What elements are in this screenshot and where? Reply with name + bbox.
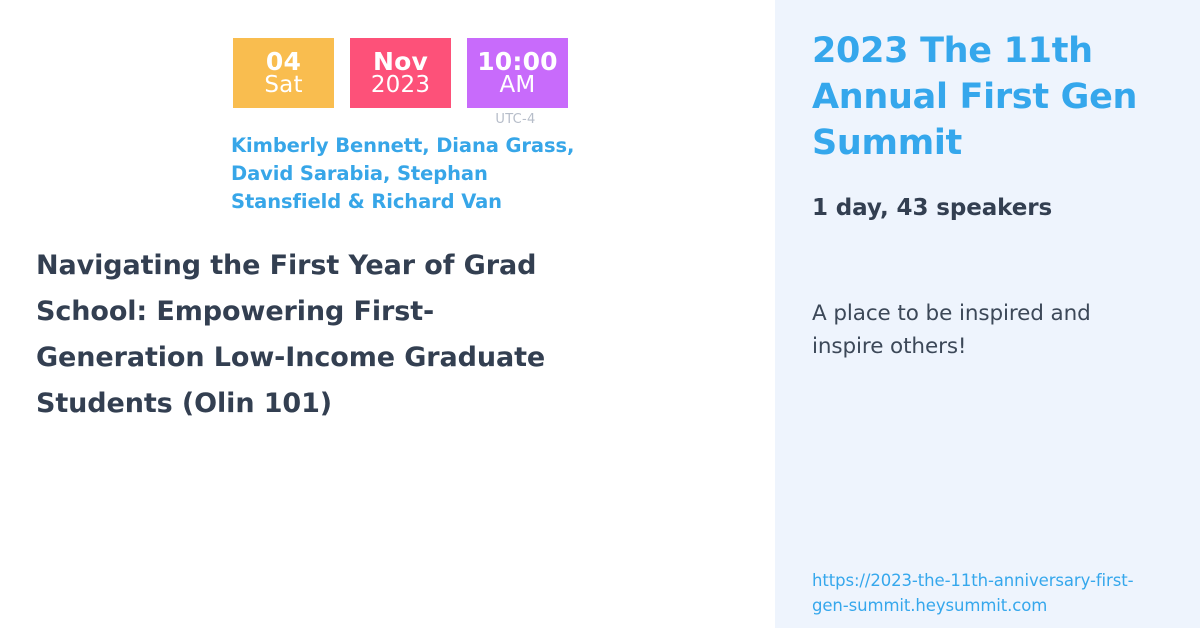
- event-share-card: 04 Sat Nov 2023 10:00 AM UTC-4 Kimberly …: [0, 0, 1200, 628]
- timezone-label: UTC-4: [465, 112, 566, 127]
- date-badge-day-number: 04: [266, 49, 301, 75]
- summit-panel: 2023 The 11th Annual First Gen Summit 1 …: [775, 0, 1200, 628]
- date-badge-day-weekday: Sat: [264, 74, 302, 97]
- date-badge-time-clock: 10:00: [477, 49, 558, 75]
- summit-stats: 1 day, 43 speakers: [812, 194, 1152, 224]
- summit-url-link[interactable]: https://2023-the-11th-anniversary-first-…: [812, 569, 1152, 618]
- date-badge-day: 04 Sat: [233, 38, 334, 108]
- session-title: Navigating the First Year of Grad School…: [36, 243, 566, 427]
- date-badge-year: 2023: [371, 74, 430, 97]
- date-badge-month-name: Nov: [373, 49, 428, 75]
- date-time-badge-group: 04 Sat Nov 2023 10:00 AM: [233, 38, 568, 108]
- summit-tagline: A place to be inspired and inspire other…: [812, 298, 1142, 363]
- date-badge-time: 10:00 AM: [467, 38, 568, 108]
- date-badge-time-meridiem: AM: [500, 74, 536, 97]
- session-panel: 04 Sat Nov 2023 10:00 AM UTC-4 Kimberly …: [0, 0, 775, 628]
- speaker-list: Kimberly Bennett, Diana Grass, David Sar…: [231, 132, 575, 216]
- summit-name: 2023 The 11th Annual First Gen Summit: [812, 28, 1142, 167]
- date-badge-month: Nov 2023: [350, 38, 451, 108]
